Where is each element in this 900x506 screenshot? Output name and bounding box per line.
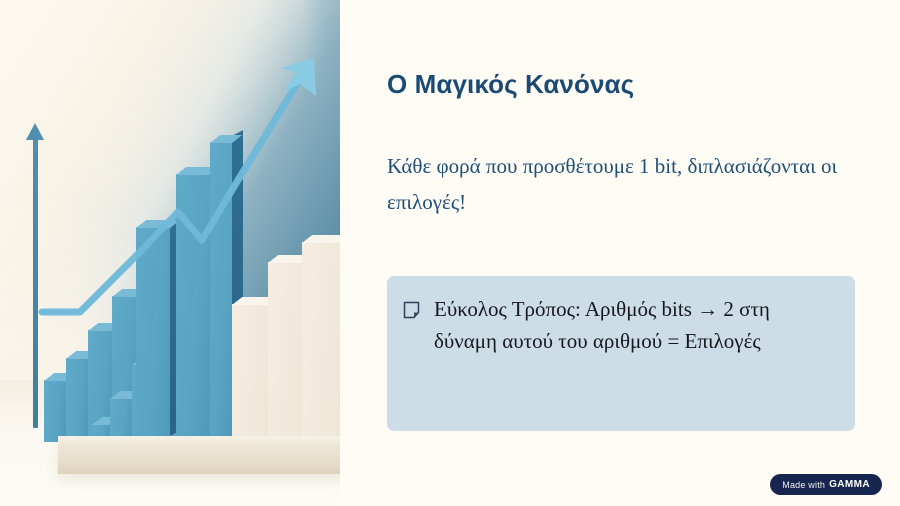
callout-text: Εύκολος Τρόπος: Αριθμός bits → 2 στη δύν… <box>434 294 835 357</box>
badge-prefix: Made with <box>782 480 825 490</box>
made-with-gamma-badge[interactable]: Made with GAMMA <box>770 474 882 495</box>
growth-trend-arrow-icon <box>0 0 340 506</box>
callout-box: Εύκολος Τρόπος: Αριθμός bits → 2 στη δύν… <box>387 276 855 431</box>
badge-brand: GAMMA <box>829 479 870 490</box>
content-panel: Ο Μαγικός Κανόνας Κάθε φορά που προσθέτο… <box>340 0 900 506</box>
body-paragraph: Κάθε φορά που προσθέτουμε 1 bit, διπλασι… <box>387 148 857 220</box>
illustration-panel <box>0 0 340 506</box>
page-title: Ο Μαγικός Κανόνας <box>387 69 634 100</box>
slide: Ο Μαγικός Κανόνας Κάθε φορά που προσθέτο… <box>0 0 900 506</box>
note-icon <box>403 301 420 319</box>
